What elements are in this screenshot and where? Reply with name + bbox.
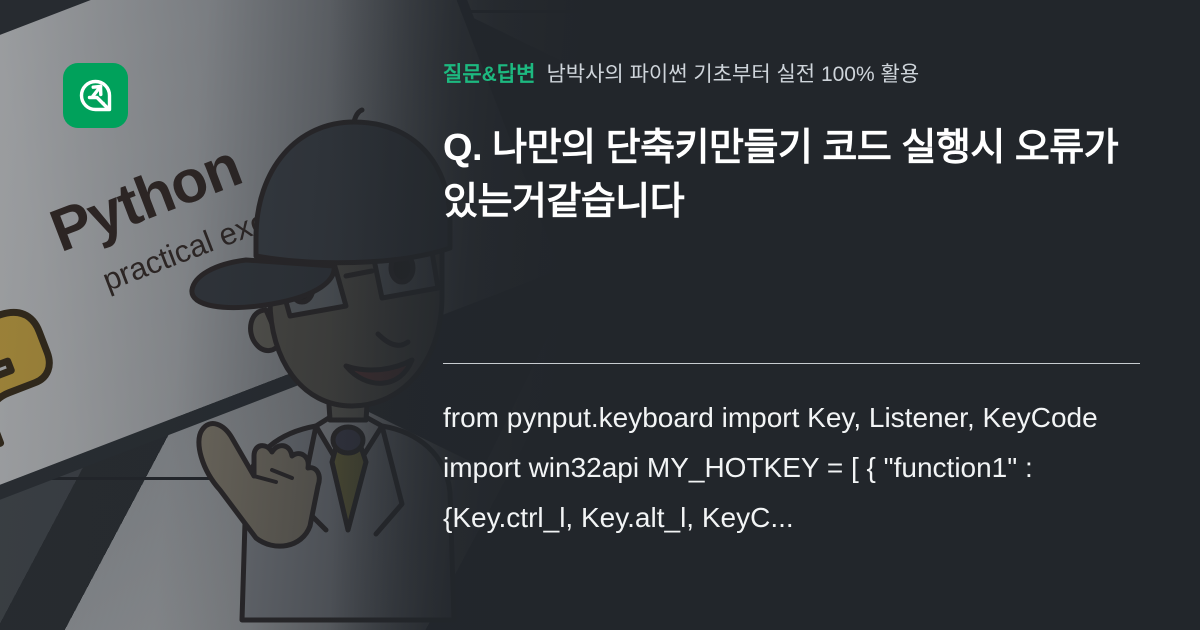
course-name[interactable]: 남박사의 파이썬 기초부터 실전 100% 활용 [546, 63, 919, 86]
app-logo-badge[interactable] [63, 63, 128, 128]
kicker-line: 질문&답변남박사의 파이썬 기초부터 실전 100% 활용 [443, 64, 919, 85]
share-card: Python practical exercise [0, 0, 1200, 630]
category-badge[interactable]: 질문&답변 [443, 63, 535, 86]
divider [443, 363, 1140, 364]
qna-bubble-arrow-icon [63, 63, 128, 128]
text-content-column: 질문&답변남박사의 파이썬 기초부터 실전 100% 활용 Q. 나만의 단축키… [443, 0, 1143, 630]
page-title: Q. 나만의 단축키만들기 코드 실행시 오류가 있는거같습니다 [443, 122, 1143, 230]
question-body-excerpt: from pynput.keyboard import Key, Listene… [443, 393, 1148, 542]
